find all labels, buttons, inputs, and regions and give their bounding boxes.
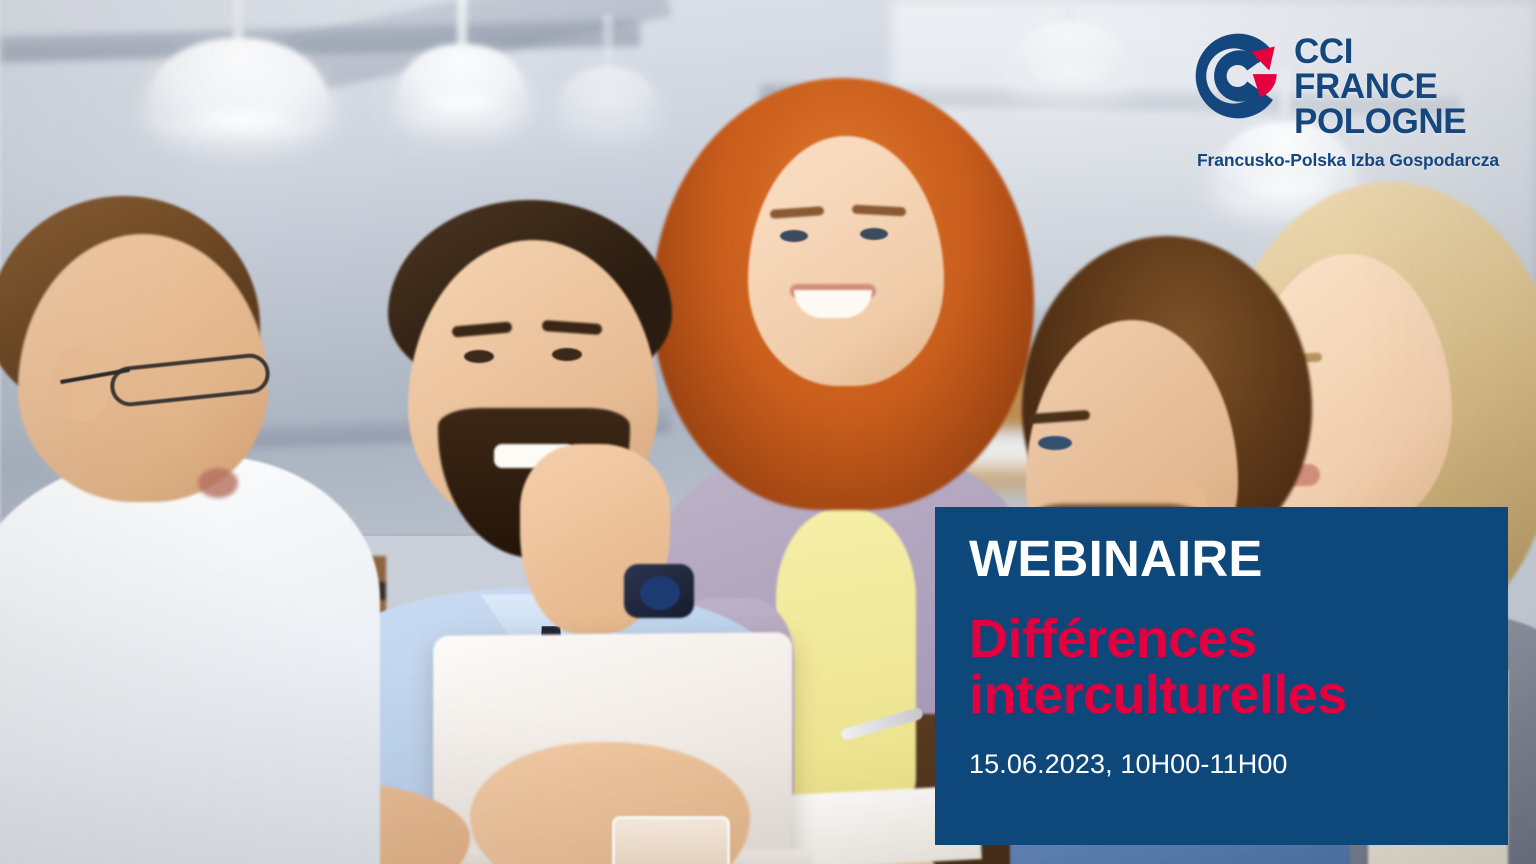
pendant-lamp-icon [148,0,328,136]
event-title-line-1: Différences [969,609,1257,669]
event-info-panel: WEBINAIRE Différences interculturelles 1… [935,507,1508,845]
logo-line-1: CCI FRANCE [1294,34,1504,104]
pendant-lamp-icon [1010,0,1130,80]
drinking-glass [612,816,730,864]
cci-circle-mark-icon [1192,30,1284,122]
person-man-with-glasses [0,196,380,864]
webinar-promo-banner: CCI FRANCE POLOGNE Francusko-Polska Izba… [0,0,1536,864]
event-datetime: 15.06.2023, 10H00-11H00 [969,749,1508,780]
pendant-lamp-icon [560,14,656,102]
event-kicker: WEBINAIRE [969,533,1508,584]
event-title-line-2: interculturelles [969,668,1508,724]
pendant-lamp-icon [398,0,526,112]
logo-tagline: Francusko-Polska Izba Gospodarcza [1192,150,1504,171]
cci-france-pologne-logo[interactable]: CCI FRANCE POLOGNE Francusko-Polska Izba… [1192,28,1504,168]
event-title: Différences interculturelles [969,612,1508,723]
logo-line-2: POLOGNE [1294,104,1504,139]
